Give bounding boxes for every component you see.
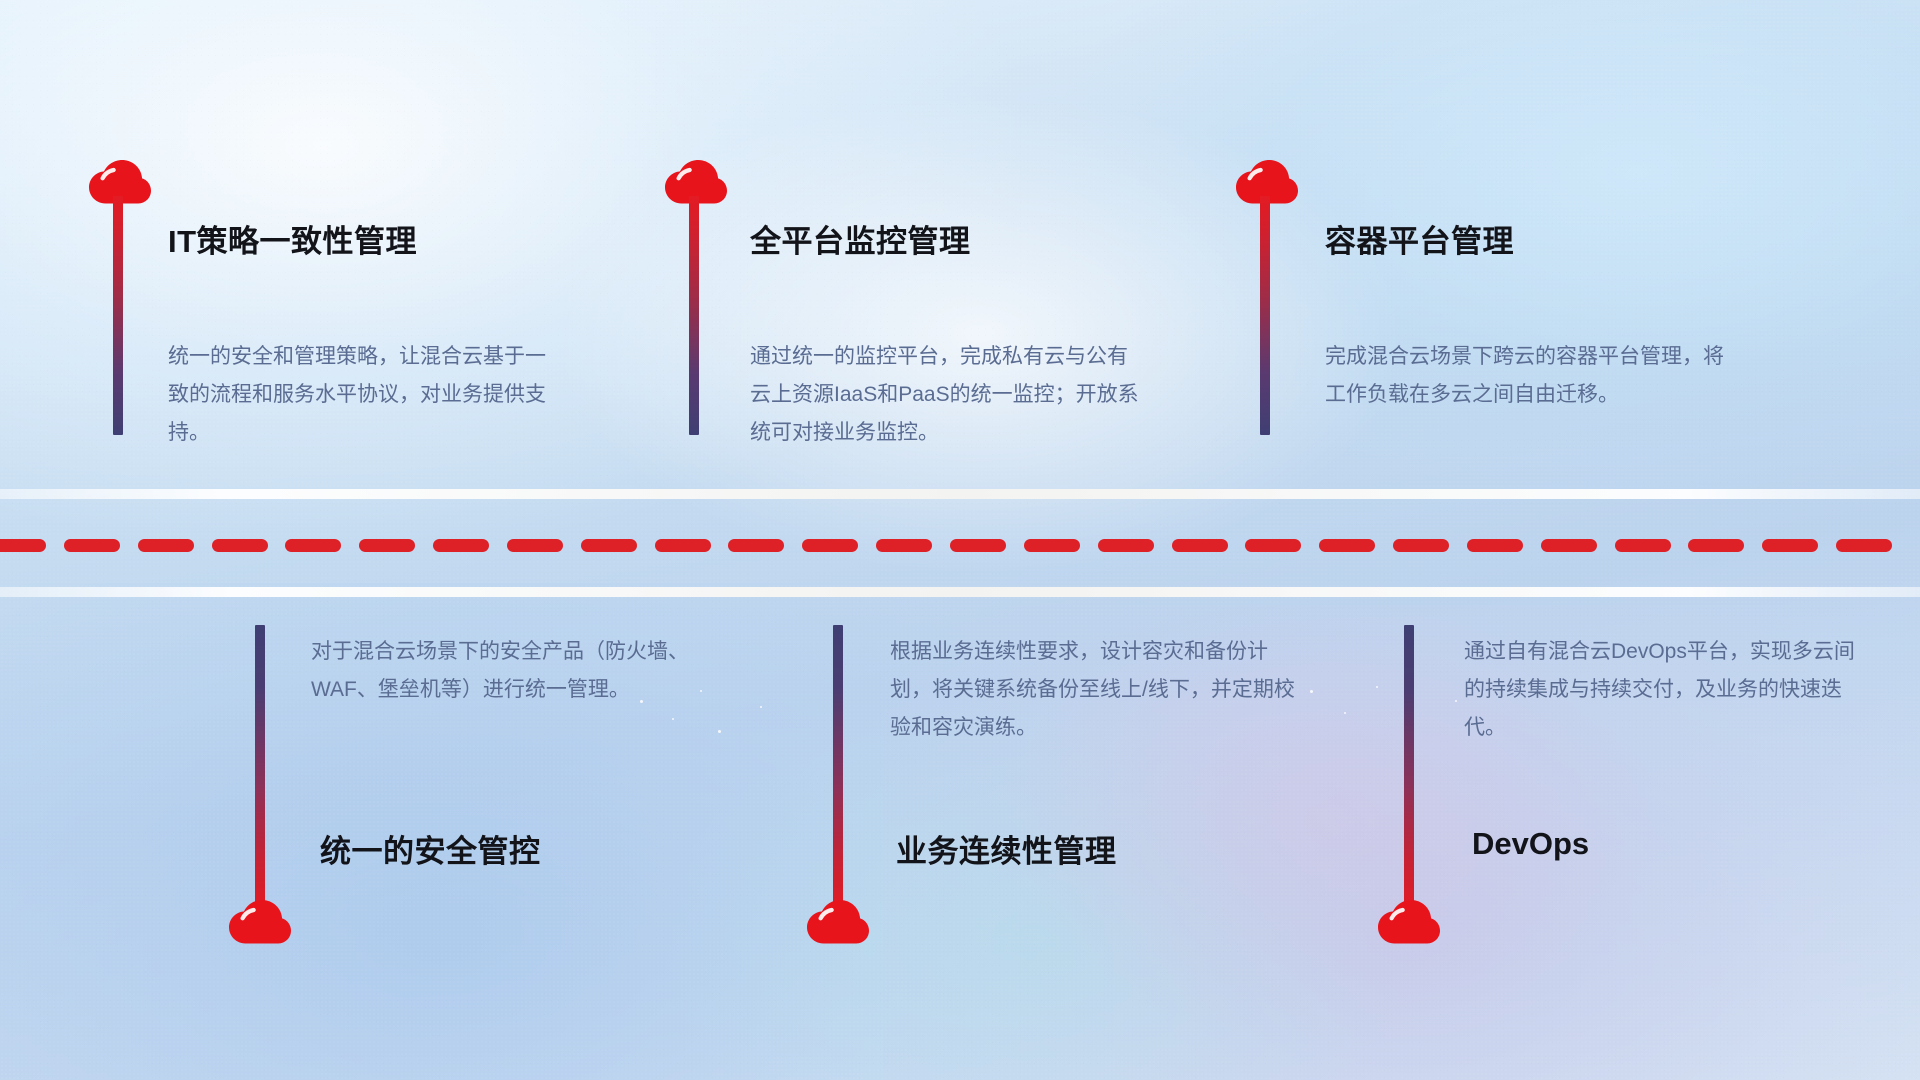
card-body: 通过统一的监控平台，完成私有云与公有云上资源IaaS和PaaS的统一监控；开放系… <box>750 338 1142 452</box>
card-body: 统一的安全和管理策略，让混合云基于一致的流程和服务水平协议，对业务提供支持。 <box>168 338 560 452</box>
stem-line <box>1404 625 1414 910</box>
card-body: 完成混合云场景下跨云的容器平台管理，将工作负载在多云之间自由迁移。 <box>1325 338 1725 414</box>
card-heading: 统一的安全管控 <box>320 826 541 871</box>
card-heading: 业务连续性管理 <box>896 826 1117 871</box>
cloud-icon <box>1378 900 1440 944</box>
stem-line <box>255 625 265 910</box>
stem-line <box>689 196 699 435</box>
stem-line <box>833 625 843 910</box>
cloud-icon <box>807 900 869 944</box>
card-heading: 全平台监控管理 <box>750 216 971 261</box>
card-heading: IT策略一致性管理 <box>168 216 417 261</box>
card-body: 对于混合云场景下的安全产品（防火墙、WAF、堡垒机等）进行统一管理。 <box>311 633 721 709</box>
cloud-icon <box>229 900 291 944</box>
card-body: 通过自有混合云DevOps平台，实现多云间的持续集成与持续交付，及业务的快速迭代… <box>1464 633 1864 747</box>
stem-line <box>1260 196 1270 435</box>
card-heading: 容器平台管理 <box>1325 216 1514 261</box>
stem-line <box>113 196 123 435</box>
card-body: 根据业务连续性要求，设计容灾和备份计划，将关键系统备份至线上/线下，并定期校验和… <box>890 633 1300 747</box>
card-heading: DevOps <box>1472 826 1589 862</box>
